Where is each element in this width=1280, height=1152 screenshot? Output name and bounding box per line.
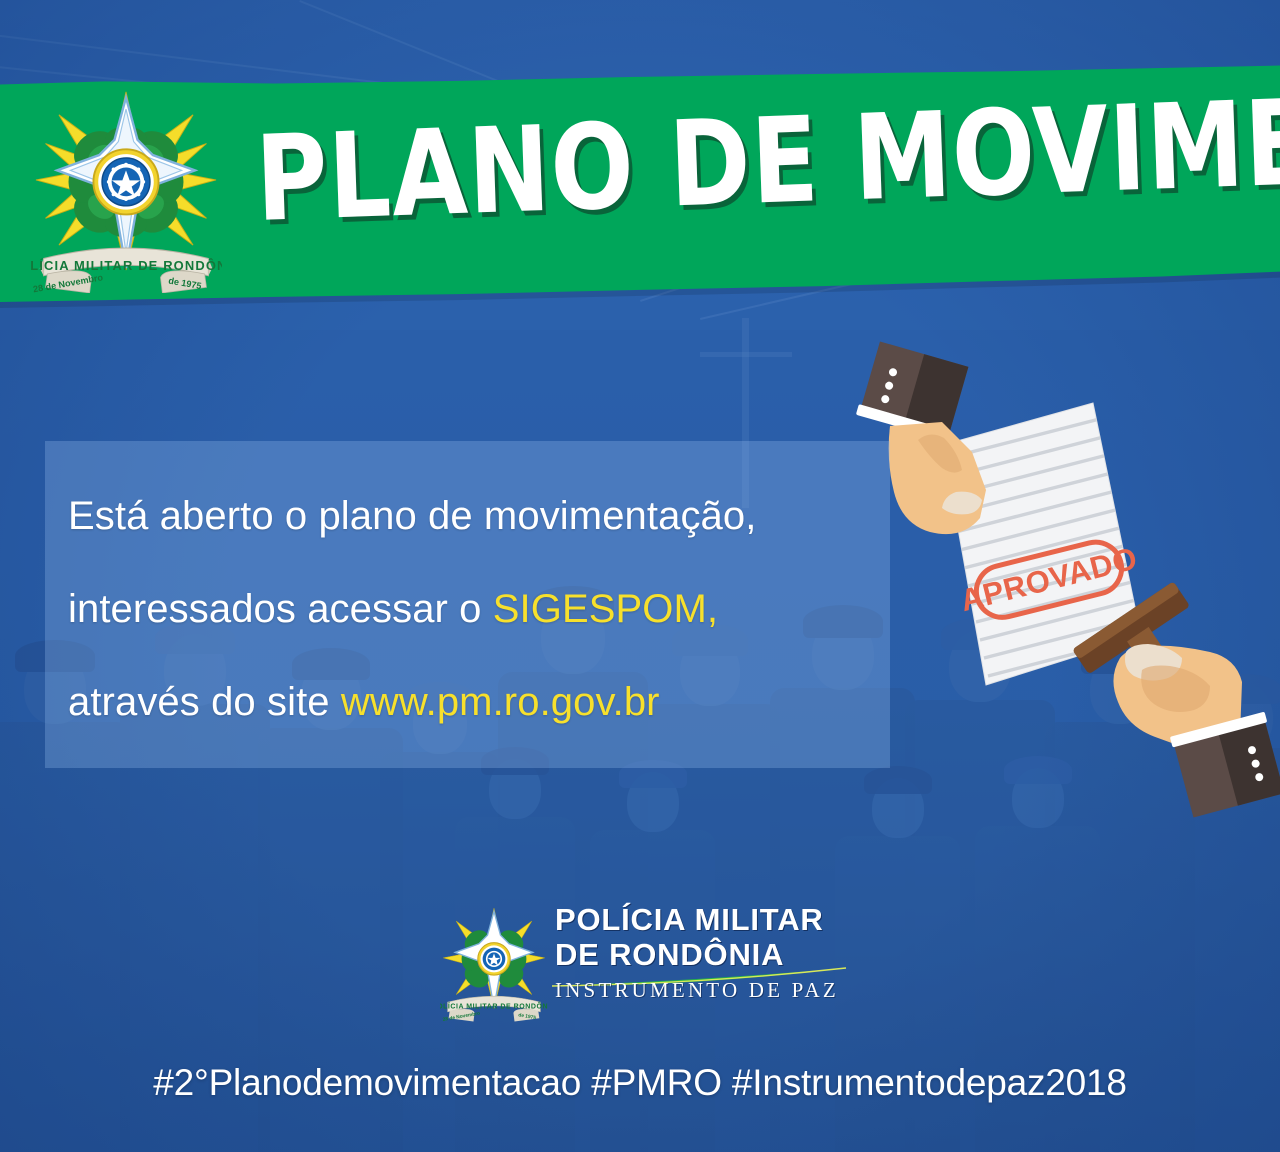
message-line-2-prefix: interessados acessar o bbox=[68, 587, 493, 631]
emblem-ribbon-main-text: POLÍCIA MILITAR DE RONDÔNIA bbox=[30, 258, 222, 273]
footer-logo-line-1: POLÍCIA MILITAR bbox=[555, 902, 855, 937]
website-url-highlight[interactable]: www.pm.ro.gov.br bbox=[341, 680, 660, 724]
footer-logo: POLÍCIA MILITAR DE RONDÔNIA 28 de Novemb… bbox=[440, 902, 850, 1022]
footer-coat-of-arms-emblem: POLÍCIA MILITAR DE RONDÔNIA 28 de Novemb… bbox=[440, 906, 548, 1018]
message-line-3: através do site www.pm.ro.gov.br bbox=[68, 656, 888, 749]
message-line-3-prefix: através do site bbox=[68, 680, 341, 724]
message-line-2: interessados acessar o SIGESPOM, bbox=[68, 563, 888, 656]
message-line-1: Está aberto o plano de movimentação, bbox=[68, 470, 888, 563]
footer-logo-tagline: INSTRUMENTO DE PAZ bbox=[555, 978, 855, 1002]
footer-logo-text: POLÍCIA MILITAR DE RONDÔNIA INSTRUMENTO … bbox=[555, 902, 855, 1002]
page-title: PLANO DE MOVIMENTAÇÃO bbox=[253, 72, 1178, 254]
sigespom-highlight: SIGESPOM, bbox=[493, 587, 718, 631]
footer-logo-line-2: DE RONDÔNIA bbox=[555, 937, 855, 972]
coat-of-arms-emblem: POLÍCIA MILITAR DE RONDÔNIA 28 de Novemb… bbox=[30, 88, 222, 293]
poster-canvas: POLÍCIA MILITAR DE RONDÔNIA 28 de Novemb… bbox=[0, 0, 1280, 1152]
hashtags-line: #2°Planodemovimentacao #PMRO #Instrument… bbox=[0, 1062, 1280, 1104]
message-text-block: Está aberto o plano de movimentação, int… bbox=[68, 470, 888, 749]
